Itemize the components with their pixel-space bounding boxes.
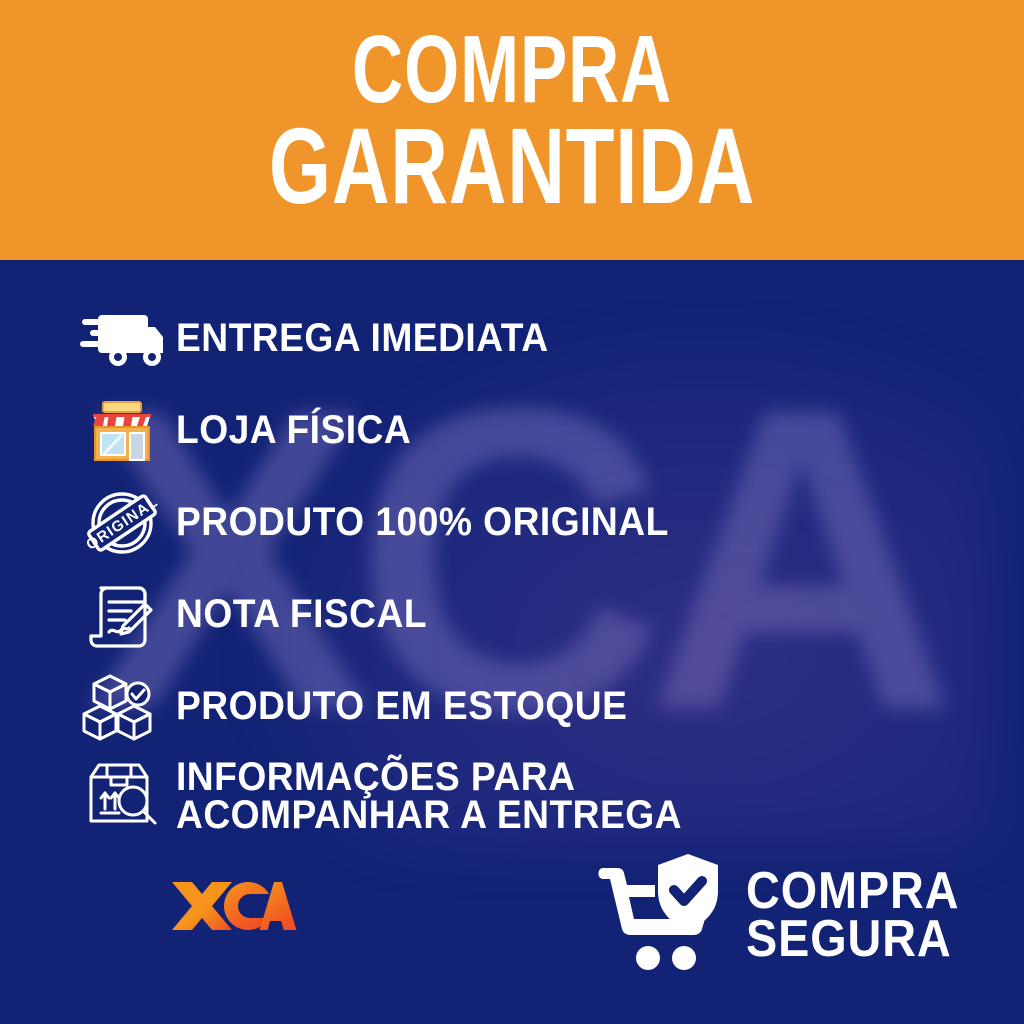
package-tracking-icon [74,758,170,836]
benefit-label: ENTREGA IMEDIATA [176,320,549,358]
delivery-truck-icon [74,300,170,378]
benefit-row-informacoes-entrega: INFORMAÇÕES PARA ACOMPANHAR A ENTREGA [0,758,1024,836]
benefits-list: ENTREGA IMEDIATA [0,300,1024,836]
header-line-2: GARANTIDA [133,112,891,220]
benefit-row-loja-fisica: LOJA FÍSICA [0,392,1024,470]
secure-purchase-label: COMPRA SEGURA [746,868,959,964]
cart-shield-check-icon [596,854,724,977]
benefit-row-produto-estoque: PRODUTO EM ESTOQUE [0,668,1024,746]
boxes-check-icon [74,668,170,746]
benefit-label: INFORMAÇÕES PARA ACOMPANHAR A ENTREGA [176,759,682,834]
storefront-icon [74,392,170,470]
xca-brand-logo [170,868,300,942]
secure-purchase-badge: COMPRA SEGURA [596,854,983,977]
benefit-row-nota-fiscal: NOTA FISCAL [0,576,1024,654]
invoice-scroll-icon [74,576,170,654]
benefit-label: PRODUTO EM ESTOQUE [176,688,627,726]
benefit-label: NOTA FISCAL [176,596,427,634]
benefit-label: PRODUTO 100% ORIGINAL [176,504,669,542]
original-stamp-icon: ORIGINAL [74,484,170,562]
benefit-row-entrega-imediata: ENTREGA IMEDIATA [0,300,1024,378]
header-banner: COMPRA GARANTIDA [0,0,1024,260]
footer: COMPRA SEGURA [0,846,1024,996]
promo-card: COMPRA GARANTIDA XCA [0,0,1024,1024]
header-line-1: COMPRA [133,22,891,118]
benefit-row-produto-original: ORIGINAL PRODUTO 100% ORIGINAL [0,484,1024,562]
benefit-label: LOJA FÍSICA [176,412,411,450]
